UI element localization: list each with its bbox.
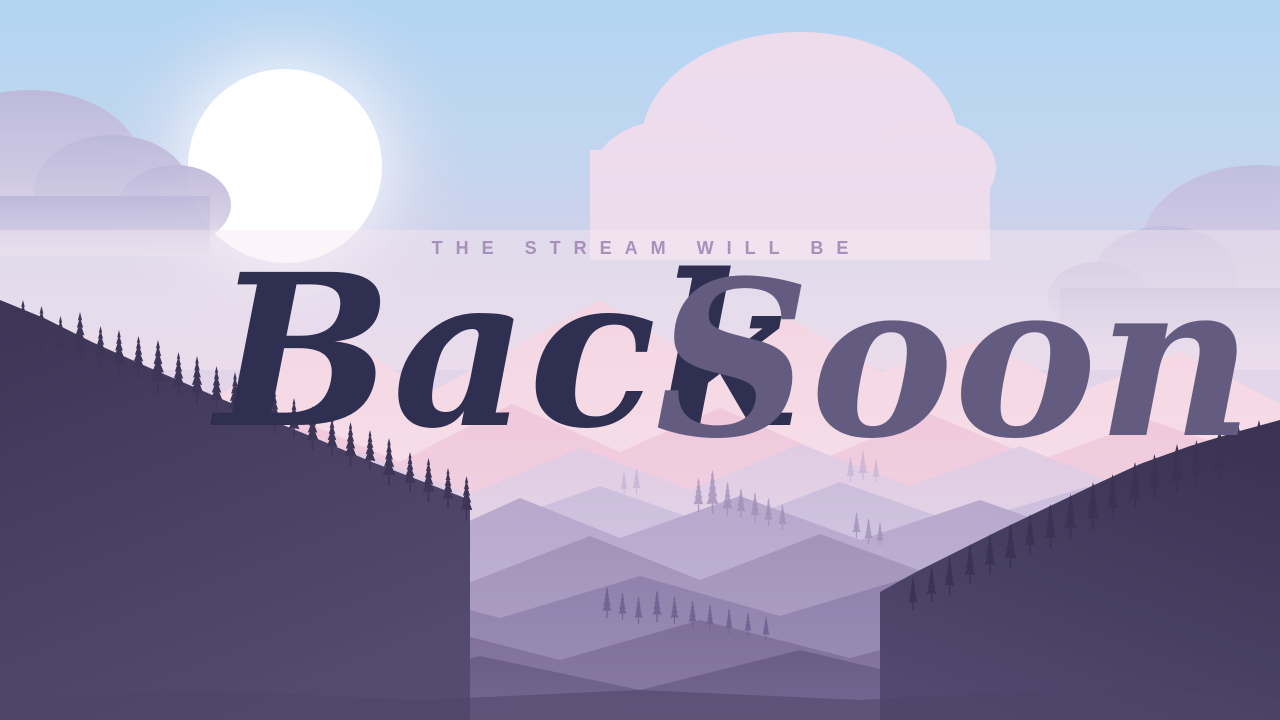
broadcast-standby-screen: THE STREAM WILL BE Back Soon xyxy=(0,0,1280,720)
landscape-illustration xyxy=(0,0,1280,720)
foreground-base xyxy=(0,688,1280,720)
